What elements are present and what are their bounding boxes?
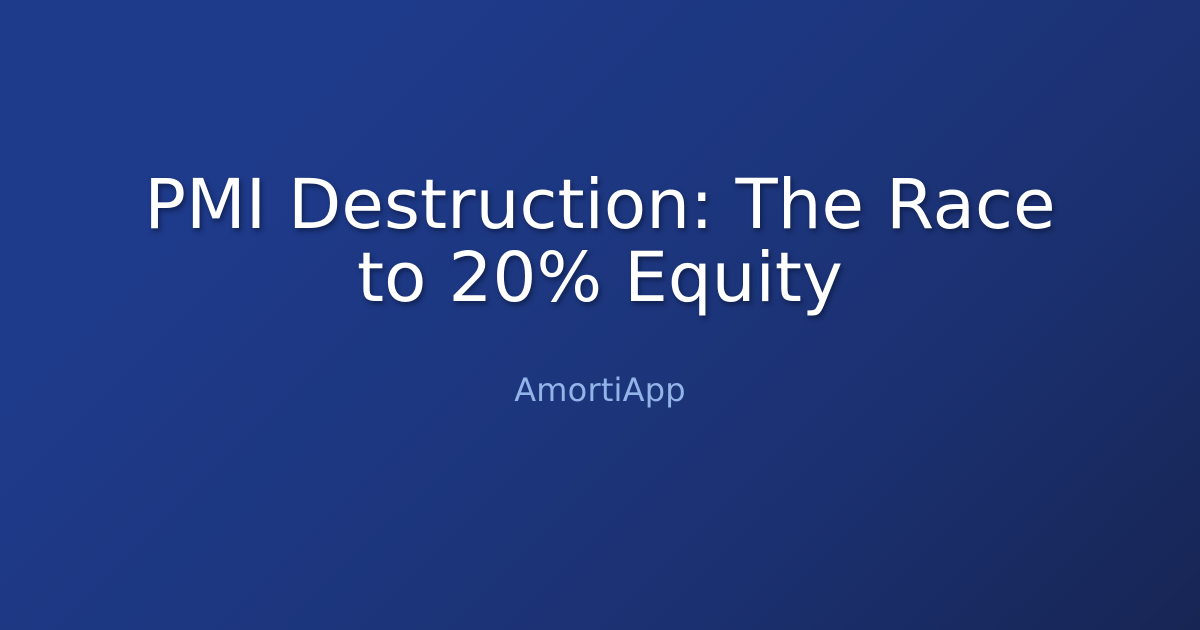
page-title: PMI Destruction: The Race to 20% Equity <box>120 169 1080 315</box>
og-card: PMI Destruction: The Race to 20% Equity … <box>0 0 1200 630</box>
content-stack: PMI Destruction: The Race to 20% Equity … <box>120 169 1080 410</box>
brand-subtitle: AmortiApp <box>514 315 686 409</box>
